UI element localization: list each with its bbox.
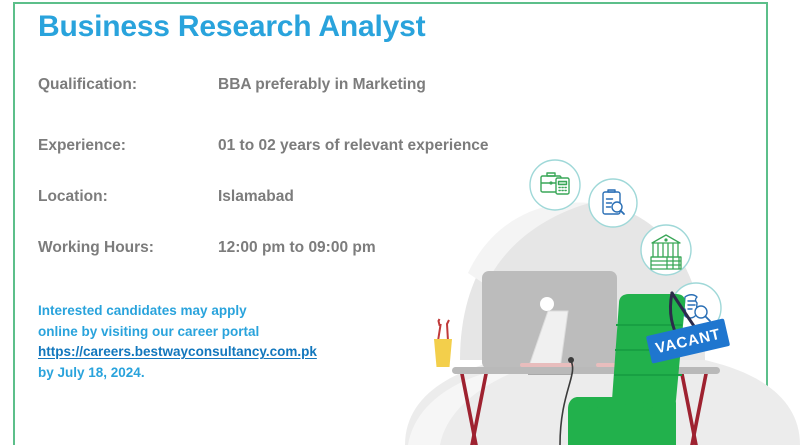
experience-value: 01 to 02 years of relevant experience: [218, 137, 598, 155]
apply-line-1: Interested candidates may apply: [38, 301, 598, 322]
experience-label: Experience:: [38, 137, 218, 155]
field-row-qualification: Qualification: BBA preferably in Marketi…: [38, 76, 598, 94]
field-row-experience: Experience: 01 to 02 years of relevant e…: [38, 137, 598, 155]
career-portal-link[interactable]: https://careers.bestwayconsultancy.com.p…: [38, 342, 598, 363]
badge-circle: [641, 225, 691, 275]
page-title: Business Research Analyst: [38, 0, 598, 43]
apply-instructions: Interested candidates may apply online b…: [38, 301, 598, 383]
chair-seat: [568, 397, 676, 445]
field-row-working-hours: Working Hours: 12:00 pm to 09:00 pm: [38, 239, 598, 257]
frame-border-left: [13, 2, 15, 445]
apply-line-2: online by visiting our career portal: [38, 322, 598, 343]
location-value: Islamabad: [218, 188, 598, 206]
qualification-label: Qualification:: [38, 76, 218, 94]
working-hours-label: Working Hours:: [38, 239, 218, 257]
apply-deadline: by July 18, 2024.: [38, 363, 598, 384]
job-posting-poster: VACANT Business Research Analyst Qualifi…: [0, 0, 800, 445]
poster-text-column: Business Research Analyst Qualification:…: [38, 0, 598, 383]
location-label: Location:: [38, 188, 218, 206]
working-hours-value: 12:00 pm to 09:00 pm: [218, 239, 598, 257]
badge-bank-building: [641, 225, 691, 275]
qualification-value: BBA preferably in Marketing: [218, 76, 598, 94]
field-row-location: Location: Islamabad: [38, 188, 598, 206]
